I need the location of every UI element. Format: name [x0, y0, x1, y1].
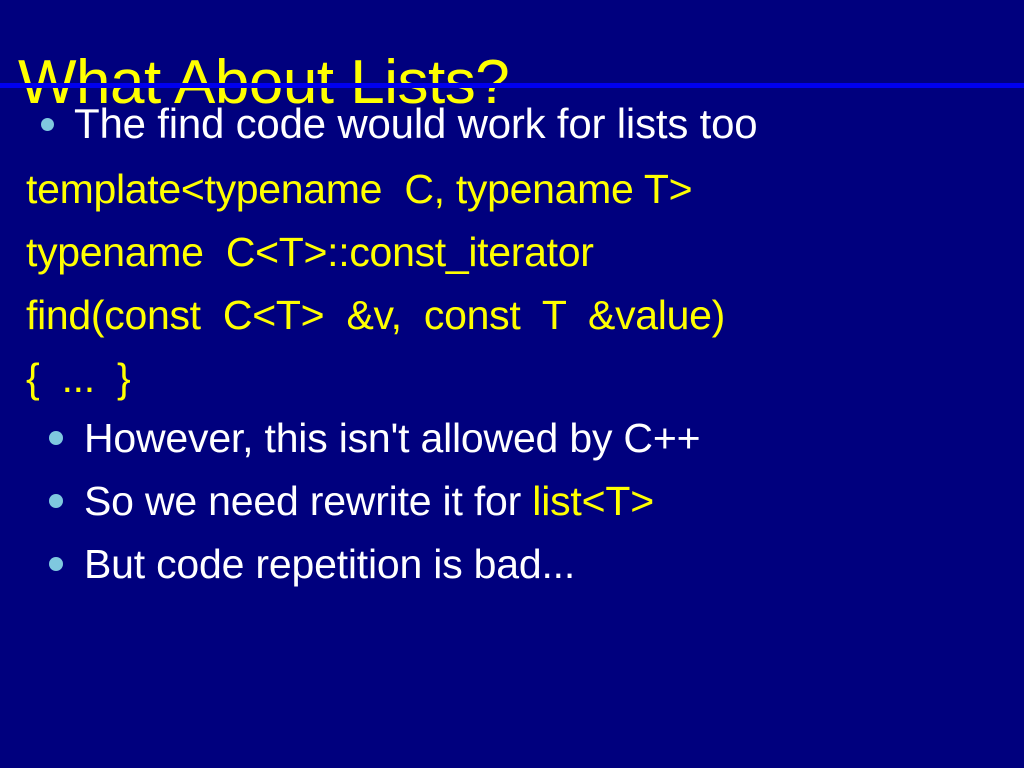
title-divider [0, 83, 1024, 88]
list-item-text: So we need rewrite it for [84, 478, 532, 524]
bullet-dot-icon [49, 557, 63, 571]
list-item: However, this isn't allowed by C++ [49, 414, 700, 462]
code-block: template<typename C, typename T> typenam… [26, 158, 1006, 410]
list-item-label: However, this isn't allowed by C++ [84, 414, 700, 462]
bullet-dot-icon [49, 431, 63, 445]
list-item-label: The find code would work for lists too [74, 100, 757, 148]
list-item-code: list<T> [532, 478, 654, 524]
code-line: template<typename C, typename T> [26, 158, 1006, 221]
bullet-dot-icon [41, 118, 54, 131]
code-line: find(const C<T> &v, const T &value) [26, 284, 1006, 347]
code-line: typename C<T>::const_iterator [26, 221, 1006, 284]
list-item-label: So we need rewrite it for list<T> [84, 477, 654, 525]
bullet-dot-icon [49, 494, 63, 508]
list-item-label: But code repetition is bad... [84, 540, 575, 588]
slide: What About Lists? The find code would wo… [0, 0, 1024, 768]
list-item: But code repetition is bad... [49, 540, 575, 588]
list-item: So we need rewrite it for list<T> [49, 477, 654, 525]
list-item: The find code would work for lists too [41, 100, 757, 148]
code-line: { ... } [26, 347, 1006, 410]
